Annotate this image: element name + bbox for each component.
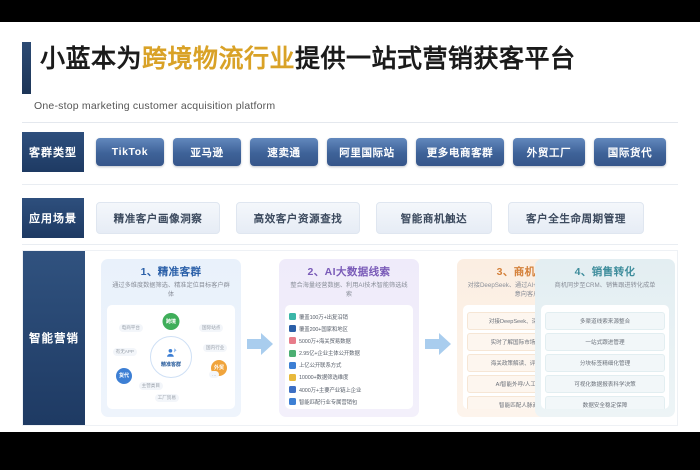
bullet-label: 上亿公开联系方式	[299, 361, 341, 369]
conversion-item: 可视化数据报表科学决策	[545, 375, 665, 393]
bullet-label: 2.95亿+企业主体公开数据	[299, 349, 360, 357]
panel-4-head: 4、销售转化 商机同步至CRM、销售跟进转化成单	[535, 259, 675, 305]
bullet-label: 覆盖200+国家和地区	[299, 325, 348, 333]
panel-2-body: 覆盖100万+出复沿销覆盖200+国家和地区5000万+海关贸易数据2.95亿+…	[285, 305, 413, 409]
bigdata-bullet-list: 覆盖100万+出复沿销覆盖200+国家和地区5000万+海关贸易数据2.95亿+…	[289, 310, 409, 407]
panel-1-title: 1、精准客群	[101, 264, 241, 279]
bullet-label: 智能匹配行业专属营销包	[299, 398, 357, 406]
conversion-item: 分块标签精细化管理	[545, 354, 665, 372]
bullet-marker-icon	[289, 325, 296, 332]
page-title: 小蓝本为跨境物流行业提供一站式营销获客平台	[40, 44, 576, 74]
radial-label-4: 主营类目	[139, 382, 163, 390]
conversion-item-list: 多渠道线索来源整合一站式跟进管理分块标签精细化管理可视化数据报表科学决策数据安全…	[545, 310, 665, 409]
bullet-marker-icon	[289, 398, 296, 405]
slide-page: 小蓝本为跨境物流行业提供一站式营销获客平台 One-stop marketing…	[0, 22, 700, 432]
radial-label-0: 电商平台	[119, 324, 143, 332]
panel-4-title: 4、销售转化	[535, 264, 675, 279]
row-divider-1	[22, 184, 678, 185]
radial-center-label: 精准客群	[161, 361, 181, 368]
radial-center-node: 精准客群	[150, 336, 192, 378]
panel-precise-audience[interactable]: 1、精准客群 通过多维度数据筛选、精准定位目标客户群体 精准客群 跨境 外贸	[101, 259, 241, 417]
bullet-item: 上亿公开联系方式	[289, 360, 409, 371]
page-header: 小蓝本为跨境物流行业提供一站式营销获客平台 One-stop marketing…	[0, 22, 700, 100]
chip-group-customer-type: TikTok亚马逊速卖通阿里国际站更多电商客群外贸工厂国际货代	[96, 132, 666, 172]
chip-customer-type-1[interactable]: 亚马逊	[173, 138, 241, 166]
panel-ai-bigdata-leads[interactable]: 2、AI大数据线索 整合海量经营数据、利用AI技术智能筛选线索 覆盖100万+出…	[279, 259, 419, 417]
panel-sales-conversion[interactable]: 4、销售转化 商机同步至CRM、销售跟进转化成单 多渠道线索来源整合一站式跟进管…	[535, 259, 675, 417]
radial-label-1: 国际站点	[199, 324, 223, 332]
conversion-item: 一站式跟进管理	[545, 333, 665, 351]
chip-scenario-2[interactable]: 智能商机触达	[376, 202, 492, 234]
radial-label-3: 有无APP	[113, 348, 137, 356]
conversion-item: 多渠道线索来源整合	[545, 312, 665, 330]
chip-customer-type-6[interactable]: 国际货代	[594, 138, 666, 166]
bullet-marker-icon	[289, 337, 296, 344]
row-label-customer-type: 客群类型	[22, 132, 84, 172]
conversion-item: 数据安全稳定保障	[545, 396, 665, 409]
panel-4-body: 多渠道线索来源整合一站式跟进管理分块标签精细化管理可视化数据报表科学决策数据安全…	[541, 305, 669, 409]
section-label-smart-marketing: 智能营销	[23, 251, 85, 425]
chip-customer-type-5[interactable]: 外贸工厂	[513, 138, 585, 166]
user-icon	[165, 347, 178, 360]
chip-scenario-3[interactable]: 客户全生命周期管理	[508, 202, 644, 234]
radial-label-6: …	[209, 371, 219, 378]
bullet-label: 覆盖100万+出复沿销	[299, 313, 348, 321]
title-highlight: 跨境物流行业	[142, 45, 295, 73]
bullet-marker-icon	[289, 374, 296, 381]
bullet-label: 10000+数据筛选维度	[299, 373, 348, 381]
arrow-panel-1-to-2	[247, 333, 273, 355]
panel-2-head: 2、AI大数据线索 整合海量经营数据、利用AI技术智能筛选线索	[279, 259, 419, 305]
panel-2-desc: 整合海量经营数据、利用AI技术智能筛选线索	[279, 282, 419, 299]
bullet-label: 4000万+主要产业链上企业	[299, 386, 361, 394]
header-divider	[22, 122, 678, 123]
arrow-panel-2-to-3	[425, 333, 451, 355]
panel-1-desc: 通过多维度数据筛选、精准定位目标客户群体	[101, 282, 241, 299]
chip-customer-type-4[interactable]: 更多电商客群	[416, 138, 504, 166]
bottom-letterbox-band	[0, 432, 700, 470]
bullet-item: 覆盖100万+出复沿销	[289, 311, 409, 322]
bullet-marker-icon	[289, 386, 296, 393]
panel-4-desc: 商机同步至CRM、销售跟进转化成单	[535, 282, 675, 291]
radial-label-2: 国内行业	[203, 344, 227, 352]
chip-scenario-0[interactable]: 精准客户画像洞察	[96, 202, 220, 234]
bullet-marker-icon	[289, 350, 296, 357]
chip-customer-type-3[interactable]: 阿里国际站	[327, 138, 407, 166]
smart-marketing-section: 智能营销 1、精准客群 通过多维度数据筛选、精准定位目标客户群体 精准客群	[22, 250, 678, 426]
audience-radial-diagram: 精准客群 跨境 外贸 货代 电商平台 国际站点 国内行业 有无APP 主营类目 …	[111, 310, 231, 404]
panel-1-head: 1、精准客群 通过多维度数据筛选、精准定位目标客户群体	[101, 259, 241, 305]
title-suffix: 提供一站式营销获客平台	[295, 45, 576, 73]
bullet-item: 2.95亿+企业主体公开数据	[289, 348, 409, 359]
chip-scenario-1[interactable]: 高效客户资源查找	[236, 202, 360, 234]
bullet-item: 智能匹配行业专属营销包	[289, 396, 409, 407]
row-label-scenario: 应用场景	[22, 198, 84, 238]
chip-customer-type-2[interactable]: 速卖通	[250, 138, 318, 166]
chip-group-scenario: 精准客户画像洞察高效客户资源查找智能商机触达客户全生命周期管理	[96, 198, 644, 238]
panel-2-title: 2、AI大数据线索	[279, 264, 419, 279]
bullet-label: 5000万+海关贸易数据	[299, 337, 351, 345]
row-divider-2	[22, 244, 678, 245]
bullet-item: 4000万+主要产业链上企业	[289, 384, 409, 395]
bullet-marker-icon	[289, 313, 296, 320]
bullet-item: 10000+数据筛选维度	[289, 372, 409, 383]
radial-label-5: 工厂贸易	[155, 394, 179, 402]
bullet-item: 5000万+海关贸易数据	[289, 335, 409, 346]
chip-customer-type-0[interactable]: TikTok	[96, 138, 164, 166]
panel-1-body: 精准客群 跨境 外贸 货代 电商平台 国际站点 国内行业 有无APP 主营类目 …	[107, 305, 235, 409]
bullet-marker-icon	[289, 362, 296, 369]
page-subtitle: One-stop marketing customer acquisition …	[34, 100, 275, 112]
header-accent-bar	[22, 42, 31, 94]
radial-node-cross-border[interactable]: 跨境	[163, 313, 180, 330]
bullet-item: 覆盖200+国家和地区	[289, 323, 409, 334]
radial-node-freight[interactable]: 货代	[116, 368, 132, 384]
title-prefix: 小蓝本为	[40, 45, 142, 73]
top-letterbox-band	[0, 0, 700, 22]
